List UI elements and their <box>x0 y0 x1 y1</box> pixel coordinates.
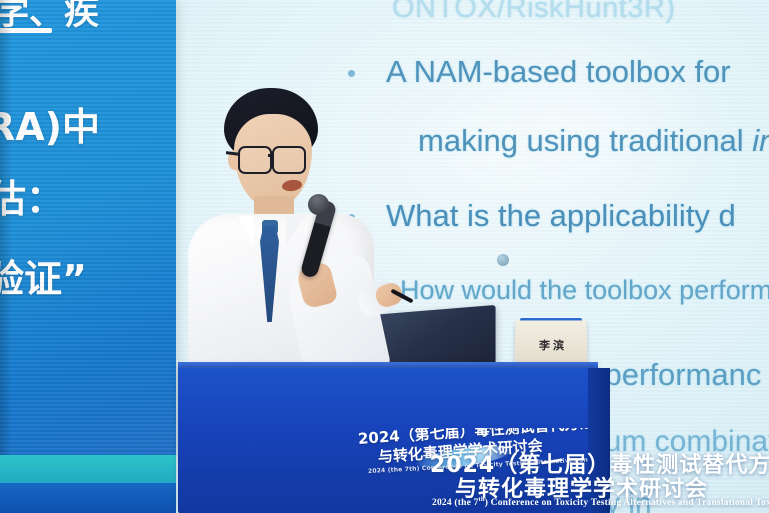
left-slide-line-4: 验证” <box>0 248 87 303</box>
wall-speaker-icon <box>497 254 509 266</box>
left-slide-line-2: RA)中 <box>0 96 100 151</box>
shirt-collar-left <box>238 216 254 246</box>
glasses-bridge-icon <box>268 154 274 157</box>
slide-bullet-1-line-1: A NAM-based toolbox for <box>386 54 731 90</box>
slide-bullet-1-line-2: making using traditional in <box>418 123 769 159</box>
speaker-person <box>182 88 382 388</box>
left-screen-navy-strip <box>0 483 176 513</box>
conference-photo: ONTOX/RiskHunt3R) A NAM-based toolbox fo… <box>0 0 769 513</box>
shirt-collar-right <box>286 216 304 246</box>
slide-bullet-1-line-2-plain: making using traditional <box>418 123 752 158</box>
glasses-left-lens-icon <box>238 146 272 174</box>
left-slide-line-1: 学、疾 <box>0 0 99 35</box>
nameplate-speaker-name: 李滨 <box>534 337 572 353</box>
slide-bullet-1-line-2-italic: in <box>752 123 769 158</box>
projection-screen-left: 学、疾 RA)中 估： 验证” <box>0 0 176 455</box>
podium-banner: 2024（第七届）毒性测试替代方法 与转化毒理学学术研讨会 2024 (the … <box>352 428 588 490</box>
bullet-point-icon-1 <box>348 70 355 77</box>
left-screen-teal-strip <box>0 455 176 483</box>
glasses-right-lens-icon <box>272 146 306 174</box>
podium-side-panel <box>588 368 610 513</box>
left-screen-edge-shadow <box>0 0 12 455</box>
slide-subline-1: How would the toolbox perform <box>400 275 769 306</box>
slide-header-fragment: ONTOX/RiskHunt3R) <box>392 0 676 25</box>
slide-bullet-2-line-1: What is the applicability d <box>386 198 736 234</box>
